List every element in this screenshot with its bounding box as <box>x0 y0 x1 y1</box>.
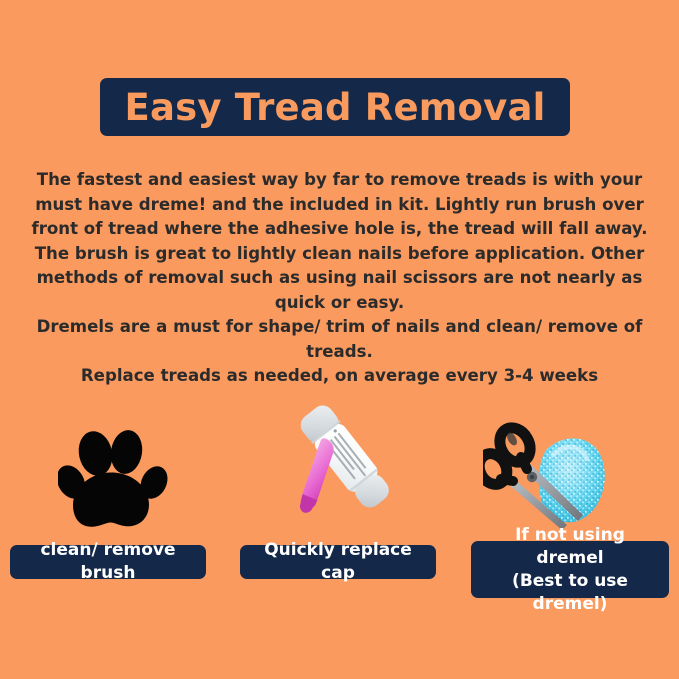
caption-clean-remove-brush: clean/ remove brush <box>10 545 206 579</box>
infographic-canvas: Easy Tread Removal The fastest and easie… <box>0 0 679 679</box>
page-title: Easy Tread Removal <box>124 89 545 126</box>
title-banner: Easy Tread Removal <box>100 78 570 136</box>
caption-quickly-replace-cap: Quickly replace cap <box>240 545 436 579</box>
paw-print-icon <box>58 425 172 530</box>
caption-dremel-line-1: If not using dremel <box>481 524 659 570</box>
body-copy: The fastest and easiest way by far to re… <box>22 168 657 389</box>
caption-if-not-using-dremel: If not using dremel (Best to use dremel) <box>471 541 669 598</box>
body-paragraph-1: The fastest and easiest way by far to re… <box>22 168 657 242</box>
caption-brush-label: clean/ remove brush <box>20 539 196 585</box>
body-paragraph-3: Dremels are a must for shape/ trim of na… <box>22 315 657 364</box>
body-paragraph-2: The brush is great to lightly clean nail… <box>22 242 657 316</box>
glue-pen-icon <box>262 380 417 525</box>
caption-cap-label: Quickly replace cap <box>250 539 426 585</box>
scissors-and-tread-icon <box>483 415 618 530</box>
illustration-row <box>0 370 679 535</box>
caption-dremel-lines: If not using dremel (Best to use dremel) <box>481 524 659 616</box>
caption-dremel-line-2: (Best to use dremel) <box>481 570 659 616</box>
